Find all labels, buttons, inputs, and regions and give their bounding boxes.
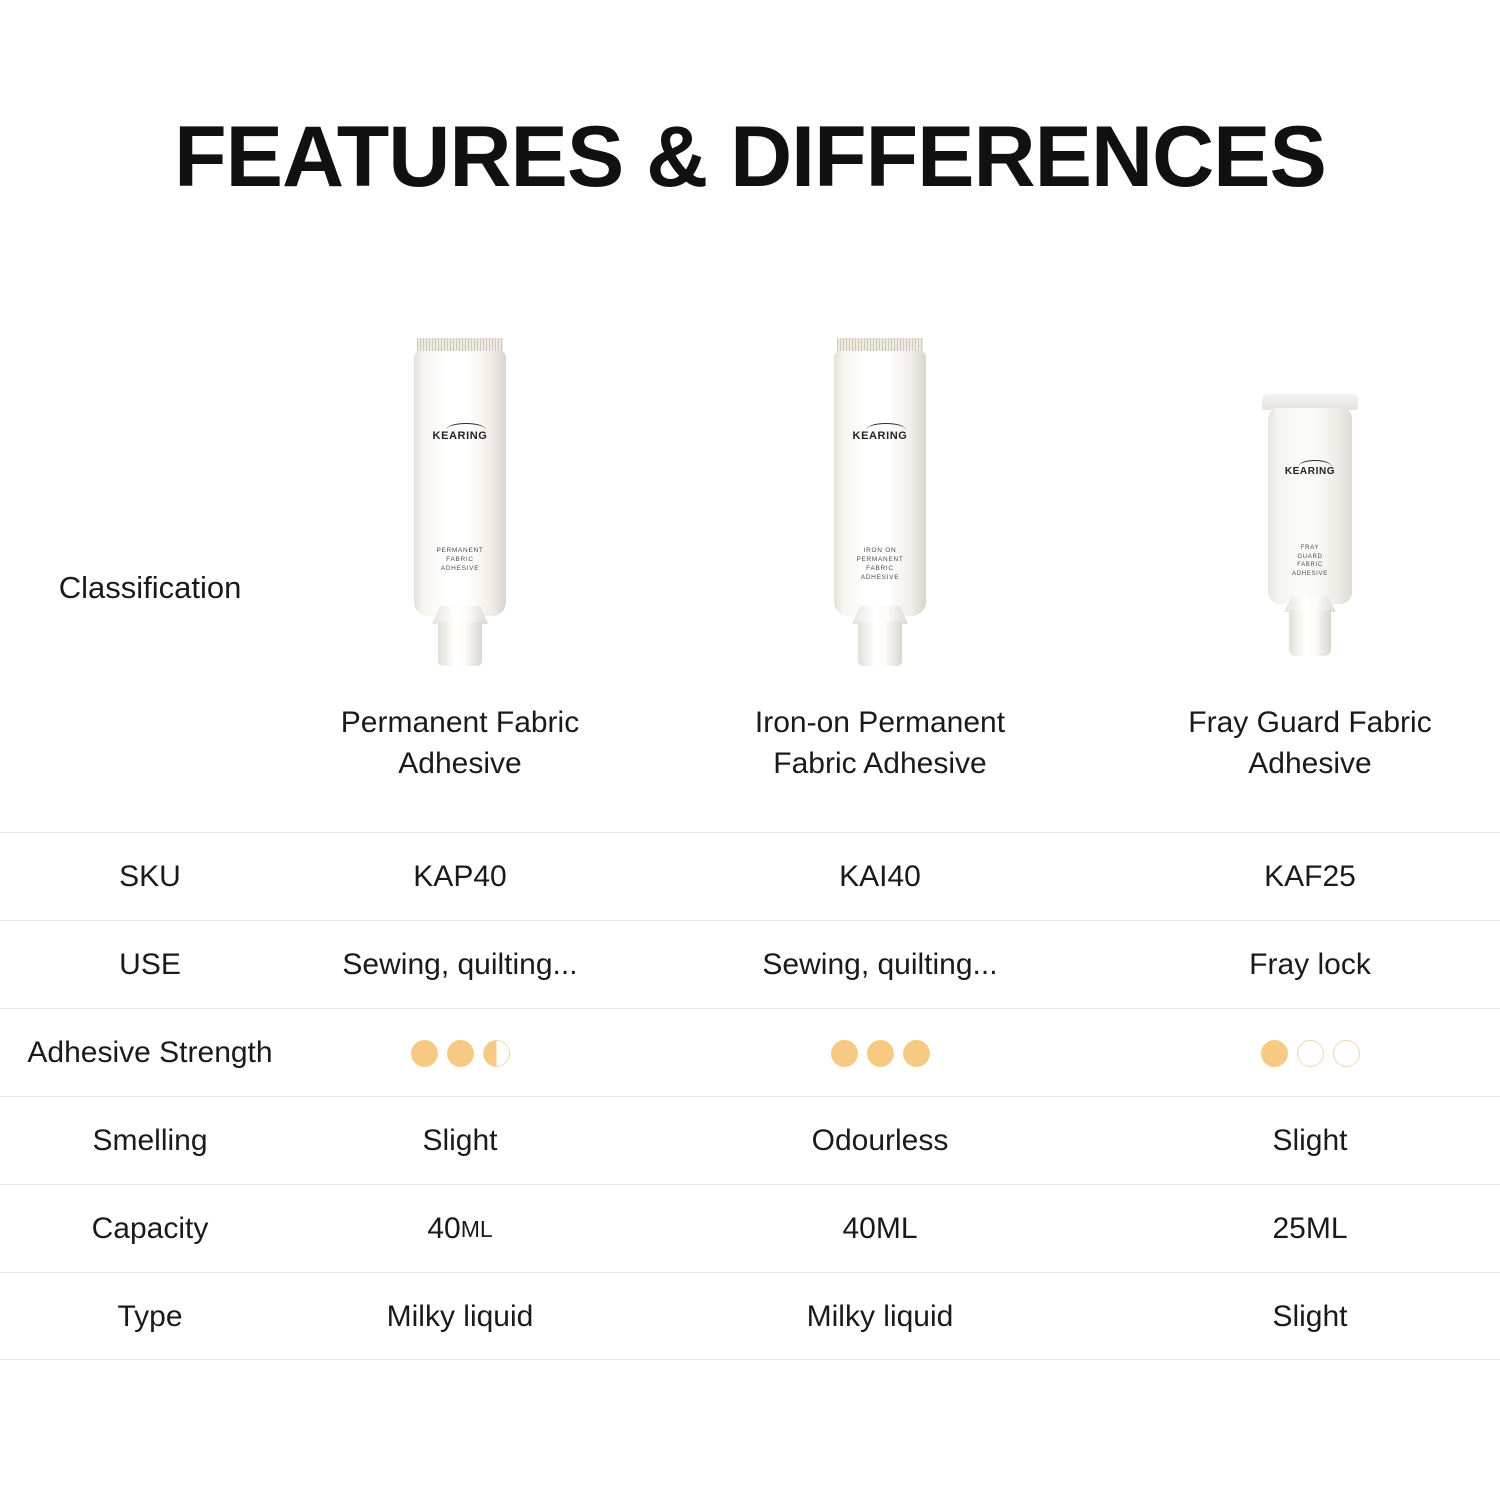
tube-cap-icon [1289, 610, 1331, 656]
adhesive-tube-icon: KEARING IRON ON PERMANENT FABRIC ADHESIV… [832, 338, 928, 638]
row-value-3: Slight [1160, 1097, 1460, 1185]
dot-filled-icon [831, 1040, 858, 1067]
tube-description-text: PERMANENT FABRIC ADHESIVE [436, 546, 483, 573]
row-label: SKU [0, 833, 300, 921]
row-label: Type [0, 1273, 300, 1361]
product-column-2: KEARING IRON ON PERMANENT FABRIC ADHESIV… [710, 300, 1050, 820]
adhesive-tube-icon: KEARING FRAY GUARD FABRIC ADHESIVE [1265, 394, 1355, 638]
row-value-2: Sewing, quilting... [720, 921, 1040, 1009]
row-label: Capacity [0, 1185, 300, 1273]
row-value-2: 40ML [720, 1185, 1040, 1273]
tube-cap-icon [858, 622, 902, 666]
brand-label: KEARING [1285, 466, 1335, 477]
table-row: USE Sewing, quilting... Sewing, quilting… [0, 920, 1500, 1008]
strength-rating-1 [411, 1040, 510, 1067]
product-name-2: Iron-on Permanent Fabric Adhesive [710, 702, 1050, 784]
brand-swoosh-icon [446, 423, 486, 430]
tube-description-text: FRAY GUARD FABRIC ADHESIVE [1288, 544, 1333, 578]
tube-description-text: IRON ON PERMANENT FABRIC ADHESIVE [856, 546, 903, 582]
product-column-3: KEARING FRAY GUARD FABRIC ADHESIVE Fray … [1140, 300, 1480, 820]
table-row: Adhesive Strength [0, 1008, 1500, 1096]
row-value-1 [300, 1009, 620, 1097]
dot-filled-icon [867, 1040, 894, 1067]
row-value-1: Sewing, quilting... [300, 921, 620, 1009]
page-title: FEATURES & DIFFERENCES [0, 108, 1500, 207]
brand-label: KEARING [433, 430, 488, 442]
table-row: Capacity 40ML 40ML 25ML [0, 1184, 1500, 1272]
row-label: Smelling [0, 1097, 300, 1185]
brand-label: KEARING [853, 430, 908, 442]
row-value-3: Slight [1160, 1273, 1460, 1361]
strength-rating-2 [831, 1040, 930, 1067]
row-value-1: 40ML [300, 1185, 620, 1273]
row-value-3: KAF25 [1160, 833, 1460, 921]
dot-empty-icon [1297, 1040, 1324, 1067]
row-value-1: Milky liquid [300, 1273, 620, 1361]
row-value-3 [1160, 1009, 1460, 1097]
row-value-2 [720, 1009, 1040, 1097]
product-image-2: KEARING IRON ON PERMANENT FABRIC ADHESIV… [710, 300, 1050, 680]
row-value-2: Odourless [720, 1097, 1040, 1185]
capacity-number: 40 [427, 1212, 460, 1246]
row-label: USE [0, 921, 300, 1009]
product-column-1: KEARING PERMANENT FABRIC ADHESIVE Perman… [290, 300, 630, 820]
dot-empty-icon [1333, 1040, 1360, 1067]
capacity-unit: ML [461, 1216, 493, 1243]
row-value-3: 25ML [1160, 1185, 1460, 1273]
table-row: Type Milky liquid Milky liquid Slight [0, 1272, 1500, 1360]
row-label: Adhesive Strength [0, 1009, 300, 1097]
row-value-1: KAP40 [300, 833, 620, 921]
product-comparison-page: FEATURES & DIFFERENCES Classification KE… [0, 0, 1500, 1500]
dot-filled-icon [411, 1040, 438, 1067]
comparison-table: SKU KAP40 KAI40 KAF25 USE Sewing, quilti… [0, 832, 1500, 1360]
strength-rating-3 [1261, 1040, 1360, 1067]
row-value-2: Milky liquid [720, 1273, 1040, 1361]
adhesive-tube-icon: KEARING PERMANENT FABRIC ADHESIVE [412, 338, 508, 638]
dot-filled-icon [903, 1040, 930, 1067]
tube-cap-icon [438, 622, 482, 666]
product-showcase: KEARING PERMANENT FABRIC ADHESIVE Perman… [0, 300, 1500, 820]
row-value-1: Slight [300, 1097, 620, 1185]
row-value-3: Fray lock [1160, 921, 1460, 1009]
dot-filled-icon [1261, 1040, 1288, 1067]
dot-half-icon [483, 1040, 510, 1067]
brand-swoosh-icon [866, 423, 906, 430]
product-name-1: Permanent Fabric Adhesive [290, 702, 630, 784]
row-value-2: KAI40 [720, 833, 1040, 921]
table-row: SKU KAP40 KAI40 KAF25 [0, 832, 1500, 920]
tube-body [414, 351, 506, 616]
product-name-3: Fray Guard Fabric Adhesive [1140, 702, 1480, 784]
product-image-3: KEARING FRAY GUARD FABRIC ADHESIVE [1140, 300, 1480, 680]
table-row: Smelling Slight Odourless Slight [0, 1096, 1500, 1184]
dot-filled-icon [447, 1040, 474, 1067]
product-image-1: KEARING PERMANENT FABRIC ADHESIVE [290, 300, 630, 680]
